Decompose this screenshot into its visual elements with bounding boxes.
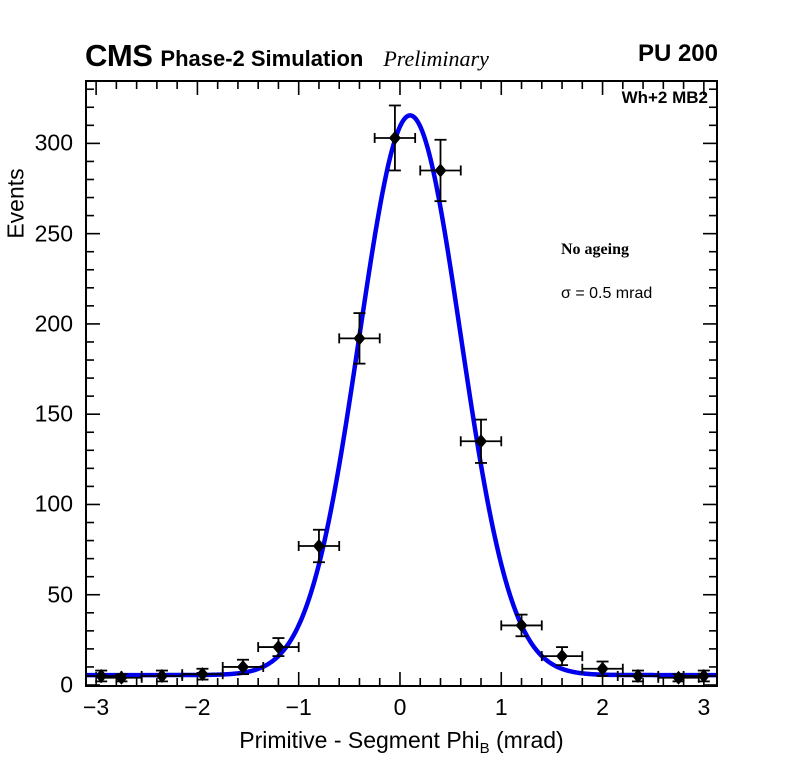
ageing-annotation: No ageing <box>561 241 629 259</box>
axis-ticks <box>87 82 716 685</box>
y-tick-label: 0 <box>0 672 73 699</box>
cms-logo: CMS <box>85 40 152 71</box>
data-point <box>339 313 380 364</box>
x-tick-label: −1 <box>286 694 312 721</box>
cms-subtitle: Phase-2 Simulation <box>160 48 363 70</box>
y-tick-label: 200 <box>0 310 73 337</box>
x-tick-label: 3 <box>697 694 710 721</box>
plot-drawing-area <box>87 82 716 685</box>
chart-canvas: CMS Phase-2 Simulation Preliminary PU 20… <box>0 0 796 772</box>
data-marker <box>556 649 568 663</box>
chamber-label: Wh+2 MB2 <box>622 88 708 108</box>
data-point <box>299 530 340 562</box>
data-points-group <box>87 105 716 684</box>
pileup-label: PU 200 <box>638 42 718 66</box>
x-axis-title-unit: (mrad) <box>490 727 564 753</box>
y-tick-label: 250 <box>0 220 73 247</box>
x-tick-label: −3 <box>83 694 109 721</box>
cms-header-left: CMS Phase-2 Simulation Preliminary <box>85 40 489 71</box>
data-point <box>618 669 659 683</box>
cms-preliminary-label: Preliminary <box>383 48 489 70</box>
data-point <box>182 667 223 681</box>
x-tick-label: 2 <box>596 694 609 721</box>
cms-header: CMS Phase-2 Simulation Preliminary PU 20… <box>85 40 718 74</box>
data-point <box>142 669 183 683</box>
data-point <box>501 615 542 637</box>
x-axis-title-subscript: B <box>480 740 490 757</box>
y-tick-label: 100 <box>0 491 73 518</box>
x-tick-label: 0 <box>394 694 407 721</box>
sigma-annotation: σ = 0.5 mrad <box>561 285 652 303</box>
x-tick-label: −2 <box>184 694 210 721</box>
plot-frame: Wh+2 MB2 No ageing σ = 0.5 mrad <box>85 80 718 687</box>
x-axis-title-main: Primitive - Segment Phi <box>239 727 479 753</box>
y-tick-label: 150 <box>0 401 73 428</box>
data-marker <box>353 331 365 345</box>
y-tick-label: 300 <box>0 130 73 157</box>
y-tick-label: 50 <box>0 581 73 608</box>
data-point <box>461 420 502 463</box>
fit-curve <box>87 115 716 675</box>
x-tick-label: 1 <box>495 694 508 721</box>
data-point <box>684 669 716 683</box>
x-axis-title: Primitive - Segment PhiB (mrad) <box>85 727 718 757</box>
